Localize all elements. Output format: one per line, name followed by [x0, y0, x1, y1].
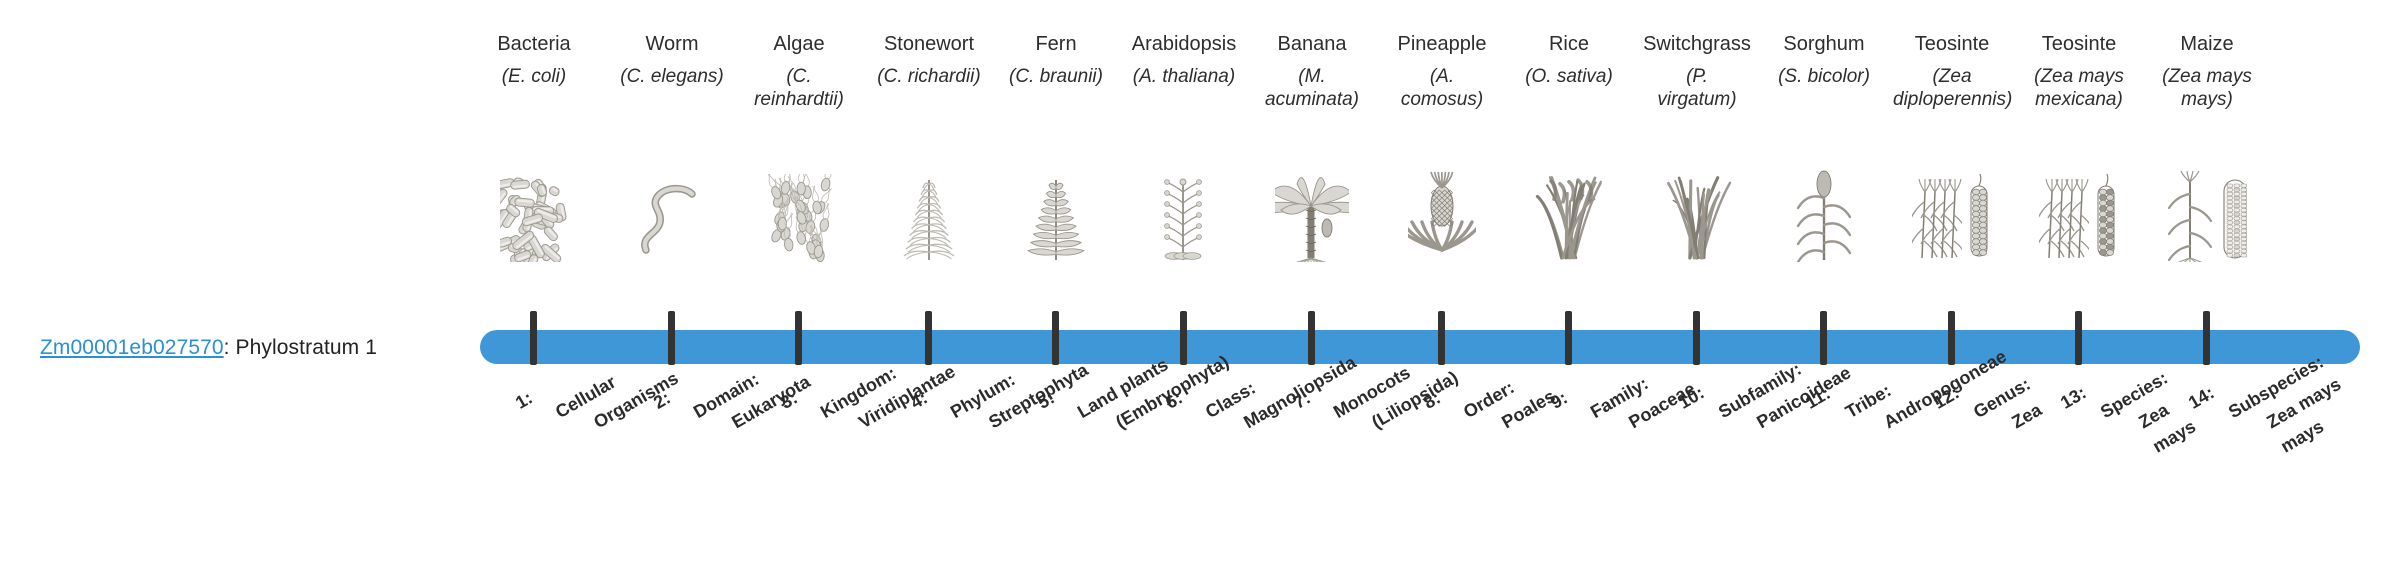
- species-scientific-name-line: (A.: [1383, 65, 1501, 88]
- species-common-name: Worm: [613, 32, 731, 56]
- species-column-rice-9: Rice(O. sativa): [1510, 32, 1628, 88]
- taxonomy-label-wrap-13: 13:Species:Zeamays: [2055, 392, 2057, 394]
- species-column-arabidopsis-6: Arabidopsis(A. thaliana): [1125, 32, 1243, 88]
- species-common-name: Arabidopsis: [1125, 32, 1243, 56]
- species-column-stonewort-4: Stonewort(C. richardii): [870, 32, 988, 88]
- species-common-name: Stonewort: [870, 32, 988, 56]
- taxonomy-label-wrap-10: 10:Subfamily:Panicoideae: [1673, 392, 1675, 394]
- species-scientific-name-line: (E. coli): [475, 65, 593, 88]
- species-scientific-name-line: (Zea mays: [2148, 65, 2266, 88]
- species-column-teosinte-12: Teosinte(Zeadiploperennis): [1893, 32, 2011, 111]
- worm-illustration: [613, 170, 731, 262]
- bacteria-illustration: [475, 170, 593, 262]
- taxonomy-label-wrap-14: 14:Subspecies:Zea maysmays: [2183, 392, 2185, 394]
- sorghum-illustration: [1765, 170, 1883, 262]
- species-scientific-name: (C.reinhardtii): [740, 65, 858, 111]
- species-scientific-name-line: reinhardtii): [740, 88, 858, 111]
- species-scientific-name-line: virgatum): [1638, 88, 1756, 111]
- species-common-name: Banana: [1253, 32, 1371, 56]
- species-scientific-name-line: mexicana): [2020, 88, 2138, 111]
- species-scientific-name: (C. braunii): [997, 65, 1115, 88]
- pineapple-illustration: [1383, 170, 1501, 262]
- species-column-pineapple-8: Pineapple(A.comosus): [1383, 32, 1501, 111]
- species-scientific-name: (M.acuminata): [1253, 65, 1371, 111]
- species-scientific-name: (O. sativa): [1510, 65, 1628, 88]
- taxonomy-label-wrap-11: 11:Tribe:Andropogoneae: [1800, 392, 1802, 394]
- species-column-maize-14: Maize(Zea maysmays): [2148, 32, 2266, 111]
- species-column-bacteria-1: Bacteria(E. coli): [475, 32, 593, 88]
- species-scientific-name-line: diploperennis): [1893, 88, 2011, 111]
- rice-illustration: [1510, 170, 1628, 262]
- gene-phylostratum-label: Zm00001eb027570: Phylostratum 1: [40, 336, 377, 360]
- maize-illustration: [2148, 170, 2266, 262]
- arabidopsis-illustration: [1125, 170, 1243, 262]
- stonewort-illustration: [870, 170, 988, 262]
- taxonomy-label-wrap-9: 9:Family:Poaceae: [1545, 392, 1547, 394]
- taxonomy-label-wrap-4: 4:Phylum:Streptophyta: [905, 392, 907, 394]
- teosinte-diploperennis-illustration: [1893, 170, 2011, 262]
- species-scientific-name: (Zea maysmays): [2148, 65, 2266, 111]
- species-column-banana-7: Banana(M.acuminata): [1253, 32, 1371, 111]
- algae-illustration: [740, 170, 858, 262]
- species-scientific-name: (C. elegans): [613, 65, 731, 88]
- species-scientific-name-line: acuminata): [1253, 88, 1371, 111]
- taxonomy-tick-1: [530, 311, 537, 365]
- species-scientific-name-line: (C. richardii): [870, 65, 988, 88]
- taxonomy-tick-9: [1565, 311, 1572, 365]
- species-common-name: Teosinte: [2020, 32, 2138, 56]
- species-column-switchgrass-10: Switchgrass(P.virgatum): [1638, 32, 1756, 111]
- species-column-fern-5: Fern(C. braunii): [997, 32, 1115, 88]
- species-common-name: Sorghum: [1765, 32, 1883, 56]
- species-scientific-name: (Zeadiploperennis): [1893, 65, 2011, 111]
- species-scientific-name: (E. coli): [475, 65, 593, 88]
- species-scientific-name-line: comosus): [1383, 88, 1501, 111]
- species-scientific-name-line: mays): [2148, 88, 2266, 111]
- teosinte-mexicana-illustration: [2020, 170, 2138, 262]
- switchgrass-illustration: [1638, 170, 1756, 262]
- species-common-name: Teosinte: [1893, 32, 2011, 56]
- taxonomy-label-wrap-12: 12:Genus:Zea: [1928, 392, 1930, 394]
- gene-label-separator: :: [224, 336, 236, 359]
- taxonomy-tick-14: [2203, 311, 2210, 365]
- species-column-algae-3: Algae(C.reinhardtii): [740, 32, 858, 111]
- taxonomy-label-wrap-6: 6:Class:Magnoliopsida: [1160, 392, 1162, 394]
- species-scientific-name-line: (P.: [1638, 65, 1756, 88]
- species-common-name: Fern: [997, 32, 1115, 56]
- taxonomy-label-wrap-5: 5:Land plants(Embryophyta): [1032, 392, 1034, 394]
- species-scientific-name: (P.virgatum): [1638, 65, 1756, 111]
- taxonomy-label-wrap-1: 1:CellularOrganisms: [510, 392, 512, 394]
- species-common-name: Rice: [1510, 32, 1628, 56]
- taxonomy-label-wrap-7: 7:Monocots(Liliopsida): [1288, 392, 1290, 394]
- species-common-name: Maize: [2148, 32, 2266, 56]
- species-column-sorghum-11: Sorghum(S. bicolor): [1765, 32, 1883, 88]
- species-scientific-name: (Zea maysmexicana): [2020, 65, 2138, 111]
- species-scientific-name-line: (O. sativa): [1510, 65, 1628, 88]
- species-scientific-name-line: (S. bicolor): [1765, 65, 1883, 88]
- taxonomy-tick-13: [2075, 311, 2082, 365]
- species-scientific-name-line: (Zea: [1893, 65, 2011, 88]
- taxonomy-tick-2: [668, 311, 675, 365]
- phylostratigraphy-figure: Zm00001eb027570: Phylostratum 1 Bacteria…: [0, 0, 2400, 580]
- taxonomy-label-wrap-8: 8:Order:Poales: [1418, 392, 1420, 394]
- taxonomy-tick-10: [1693, 311, 1700, 365]
- species-scientific-name: (C. richardii): [870, 65, 988, 88]
- species-scientific-name-line: (C. braunii): [997, 65, 1115, 88]
- banana-illustration: [1253, 170, 1371, 262]
- species-common-name: Switchgrass: [1638, 32, 1756, 56]
- species-common-name: Algae: [740, 32, 858, 56]
- species-common-name: Pineapple: [1383, 32, 1501, 56]
- species-column-teosinte-13: Teosinte(Zea maysmexicana): [2020, 32, 2138, 111]
- phylostratum-value-label: Phylostratum 1: [236, 336, 377, 359]
- species-common-name: Bacteria: [475, 32, 593, 56]
- species-column-worm-2: Worm(C. elegans): [613, 32, 731, 88]
- species-scientific-name: (S. bicolor): [1765, 65, 1883, 88]
- species-scientific-name-line: (C.: [740, 65, 858, 88]
- species-scientific-name-line: (A. thaliana): [1125, 65, 1243, 88]
- fern-illustration: [997, 170, 1115, 262]
- species-scientific-name: (A. thaliana): [1125, 65, 1243, 88]
- taxonomy-tick-3: [795, 311, 802, 365]
- species-scientific-name: (A.comosus): [1383, 65, 1501, 111]
- taxonomy-label-wrap-3: 3:Kingdom:Viridiplantae: [775, 392, 777, 394]
- species-scientific-name-line: (M.: [1253, 65, 1371, 88]
- species-scientific-name-line: (Zea mays: [2020, 65, 2138, 88]
- species-scientific-name-line: (C. elegans): [613, 65, 731, 88]
- taxonomy-label-wrap-2: 2:Domain:Eukaryota: [648, 392, 650, 394]
- gene-id-link[interactable]: Zm00001eb027570: [40, 336, 224, 359]
